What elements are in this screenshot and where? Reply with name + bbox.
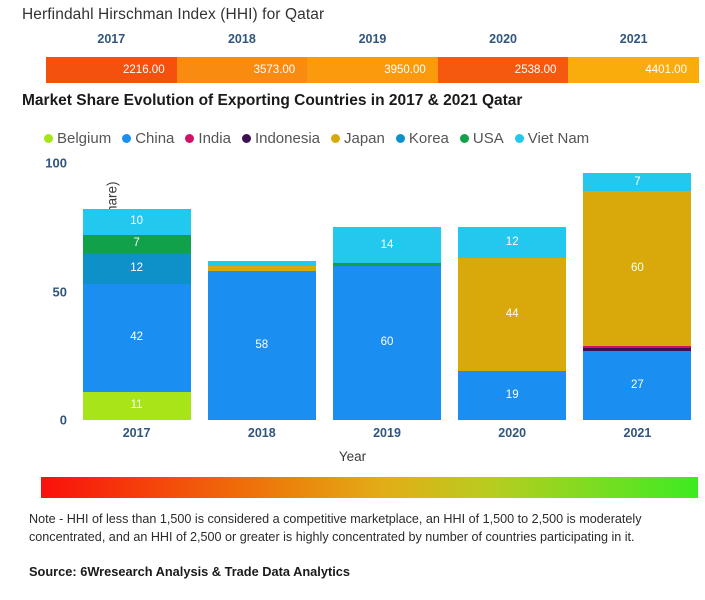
x-axis-tick: 2021 xyxy=(575,426,700,440)
hhi-year-label: 2021 xyxy=(568,32,699,52)
legend-swatch-icon xyxy=(185,134,194,143)
bar-segment[interactable]: 10 xyxy=(83,209,191,235)
stacked-bar[interactable]: 1460 xyxy=(333,227,441,420)
legend-swatch-icon xyxy=(515,134,524,143)
chart-page: Herfindahl Hirschman Index (HHI) for Qat… xyxy=(0,0,705,600)
bar-segment-value: 58 xyxy=(255,340,268,352)
bar-segment[interactable]: 12 xyxy=(83,253,191,284)
bar-segment[interactable]: 12 xyxy=(458,227,566,258)
legend-label: India xyxy=(198,130,231,147)
bar-segment[interactable]: 60 xyxy=(333,266,441,420)
hhi-title: Herfindahl Hirschman Index (HHI) for Qat… xyxy=(22,6,324,24)
bar-slot: 1071242112017 xyxy=(74,163,199,420)
bar-segment-value: 19 xyxy=(506,390,519,402)
legend-item-india[interactable]: India xyxy=(185,130,231,147)
bar-segment-value: 44 xyxy=(506,309,519,321)
bar-segment[interactable]: 58 xyxy=(208,271,316,420)
bar-segment-value: 27 xyxy=(631,380,644,392)
bar-segment-value: 12 xyxy=(506,237,519,249)
hhi-value-text: 2538.00 xyxy=(515,64,569,76)
bar-slot: 582018 xyxy=(199,163,324,420)
bar-segment[interactable]: 42 xyxy=(83,284,191,392)
bar-segment-value: 7 xyxy=(133,238,139,250)
legend-swatch-icon xyxy=(122,134,131,143)
legend-label: Japan xyxy=(344,130,385,147)
hhi-value-cell: 3950.00 xyxy=(307,57,438,83)
bar-segment-value: 60 xyxy=(631,263,644,275)
hhi-year-label: 2019 xyxy=(307,32,438,52)
x-axis-tick: 2019 xyxy=(324,426,449,440)
legend-item-indonesia[interactable]: Indonesia xyxy=(242,130,320,147)
legend-label: Korea xyxy=(409,130,449,147)
legend-swatch-icon xyxy=(242,134,251,143)
bar-segment-value: 12 xyxy=(130,263,143,275)
legend-swatch-icon xyxy=(44,134,53,143)
legend-item-viet-nam[interactable]: Viet Nam xyxy=(515,130,589,147)
legend-label: Viet Nam xyxy=(528,130,589,147)
x-axis-label: Year xyxy=(0,449,705,464)
hhi-value-cell: 2216.00 xyxy=(46,57,177,83)
bar-segment[interactable]: 11 xyxy=(83,392,191,420)
legend-item-usa[interactable]: USA xyxy=(460,130,504,147)
source-text: Source: 6Wresearch Analysis & Trade Data… xyxy=(29,564,689,579)
legend-item-belgium[interactable]: Belgium xyxy=(44,130,111,147)
bar-segment[interactable]: 14 xyxy=(333,227,441,263)
legend-label: Indonesia xyxy=(255,130,320,147)
bar-group: 1071242112017582018146020191244192020760… xyxy=(74,163,700,420)
hhi-year-label: 2017 xyxy=(46,32,177,52)
footnote-text: Note - HHI of less than 1,500 is conside… xyxy=(29,510,689,547)
hhi-value-cell: 2538.00 xyxy=(438,57,569,83)
legend-label: USA xyxy=(473,130,504,147)
bar-segment[interactable]: 27 xyxy=(583,351,691,420)
hhi-value-text: 3950.00 xyxy=(384,64,438,76)
bar-slot: 14602019 xyxy=(324,163,449,420)
bar-segment-value: 10 xyxy=(130,216,143,228)
stacked-bar[interactable]: 107124211 xyxy=(83,209,191,420)
plot-area: Share(% Value Share) 0 50 100 1071242112… xyxy=(74,163,700,420)
legend-swatch-icon xyxy=(396,134,405,143)
legend-item-china[interactable]: China xyxy=(122,130,174,147)
bar-segment[interactable]: 19 xyxy=(458,371,566,420)
bar-segment[interactable]: 60 xyxy=(583,191,691,345)
stacked-bar[interactable]: 124419 xyxy=(458,227,566,420)
legend-swatch-icon xyxy=(331,134,340,143)
hhi-year-label: 2018 xyxy=(177,32,308,52)
y-axis-tick: 0 xyxy=(60,413,67,428)
legend-swatch-icon xyxy=(460,134,469,143)
bar-slot: 1244192020 xyxy=(450,163,575,420)
legend-label: Belgium xyxy=(57,130,111,147)
chart-title: Market Share Evolution of Exporting Coun… xyxy=(22,92,522,110)
bar-segment-value: 14 xyxy=(381,240,394,252)
x-axis-tick: 2018 xyxy=(199,426,324,440)
bar-segment[interactable]: 7 xyxy=(583,173,691,191)
hhi-value-cell: 4401.00 xyxy=(568,57,699,83)
hhi-year-header: 2017 2018 2019 2020 2021 xyxy=(46,32,699,52)
hhi-scale-gradient xyxy=(41,477,698,498)
bar-segment-value: 11 xyxy=(131,400,143,412)
legend-item-korea[interactable]: Korea xyxy=(396,130,449,147)
stacked-bar[interactable]: 76027 xyxy=(583,173,691,420)
hhi-value-text: 2216.00 xyxy=(123,64,177,76)
legend-item-japan[interactable]: Japan xyxy=(331,130,385,147)
hhi-value-text: 4401.00 xyxy=(645,64,699,76)
bar-segment-value: 7 xyxy=(634,177,640,189)
bar-slot: 760272021 xyxy=(575,163,700,420)
hhi-value-text: 3573.00 xyxy=(254,64,308,76)
x-axis-tick: 2017 xyxy=(74,426,199,440)
hhi-value-bar: 2216.003573.003950.002538.004401.00 xyxy=(46,57,699,83)
hhi-year-label: 2020 xyxy=(438,32,569,52)
hhi-value-cell: 3573.00 xyxy=(177,57,308,83)
stacked-bar[interactable]: 58 xyxy=(208,261,316,420)
y-axis-tick: 100 xyxy=(45,156,67,171)
bar-segment[interactable]: 44 xyxy=(458,258,566,371)
legend-label: China xyxy=(135,130,174,147)
bar-segment-value: 42 xyxy=(130,332,143,344)
bar-segment-value: 60 xyxy=(381,337,394,349)
bar-segment[interactable]: 7 xyxy=(83,235,191,253)
y-axis-tick: 50 xyxy=(53,284,67,299)
chart-legend: BelgiumChinaIndiaIndonesiaJapanKoreaUSAV… xyxy=(44,127,684,149)
x-axis-tick: 2020 xyxy=(450,426,575,440)
